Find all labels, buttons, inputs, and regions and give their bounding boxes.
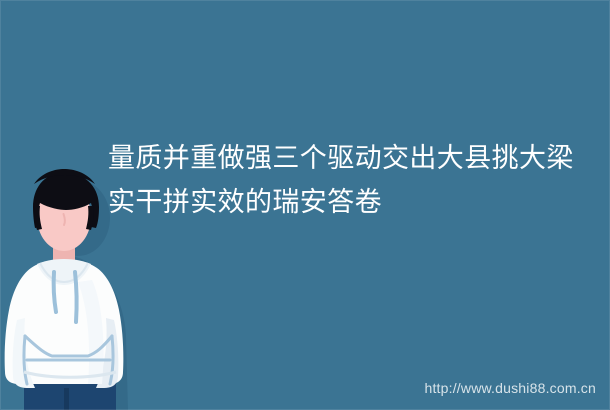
news-banner-image: 量质并重做强三个驱动交出大县挑大梁实干拼实效的瑞安答卷 http://www.d… bbox=[0, 0, 610, 410]
banner-headline: 量质并重做强三个驱动交出大县挑大梁实干拼实效的瑞安答卷 bbox=[108, 136, 578, 224]
hoodie bbox=[5, 259, 124, 388]
site-url-watermark: http://www.dushi88.com.cn bbox=[424, 379, 596, 397]
